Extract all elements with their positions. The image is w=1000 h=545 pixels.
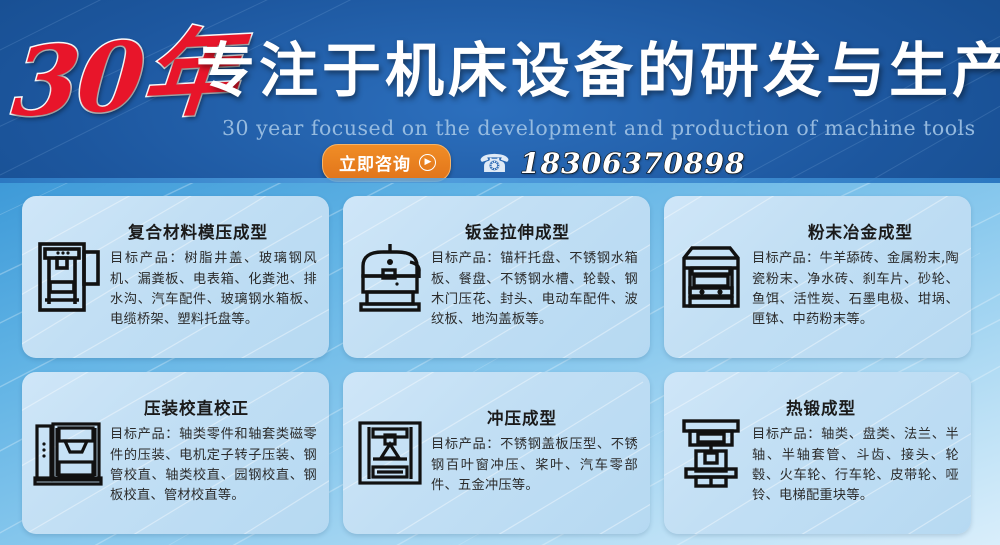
header-banner: 30年 专注于机床设备的研发与生产 30 year focused on the… [0,0,1000,183]
card-description: 目标产品：不锈钢盖板压型、不锈钢百叶窗冲压、桨叶、汽车零部件、五金冲压等。 [431,435,638,495]
card-text: 钣金拉伸成型 目标产品：锚杆托盘、不锈钢水箱板、餐盘、不锈钢水槽、轮毂、钢木门压… [427,224,638,329]
card-hot-forging[interactable]: 热锻成型 目标产品：轴类、盘类、法兰、半轴、半轴套管、斗齿、接头、轮毂、火车轮、… [664,372,971,534]
card-title: 冲压成型 [431,410,638,428]
play-arrow-icon: ▶ [419,154,436,171]
powder-metallurgy-press-icon [674,234,748,320]
banner-cta-row: 立即咨询 ▶ ☎ 18306370898 [322,144,745,182]
product-cards-section: 复合材料模压成型 目标产品：树脂井盖、玻璃钢风机、漏粪板、电表箱、化粪池、排水沟… [0,183,1000,545]
card-sheet-metal-drawing[interactable]: 钣金拉伸成型 目标产品：锚杆托盘、不锈钢水箱板、餐盘、不锈钢水槽、轮毂、钢木门压… [343,196,650,358]
press-fit-straightening-machine-icon [32,410,106,496]
consult-now-button[interactable]: 立即咨询 ▶ [322,144,451,182]
telephone-handset-icon: ☎ [479,151,510,176]
banner-subheadline: 30 year focused on the development and p… [222,116,976,140]
card-text: 压装校直校正 目标产品：轴类零件和轴套类磁零件的压装、电机定子转子压装、钢管校直… [106,400,317,505]
card-description: 目标产品：锚杆托盘、不锈钢水箱板、餐盘、不锈钢水槽、轮毂、钢木门压花、封头、电动… [431,249,638,329]
card-title: 热锻成型 [752,400,959,418]
stamping-press-icon [353,410,427,496]
card-text: 复合材料模压成型 目标产品：树脂井盖、玻璃钢风机、漏粪板、电表箱、化粪池、排水沟… [106,224,317,329]
card-text: 冲压成型 目标产品：不锈钢盖板压型、不锈钢百叶窗冲压、桨叶、汽车零部件、五金冲压… [427,410,638,495]
card-title: 复合材料模压成型 [110,224,317,242]
hot-forging-press-icon [674,410,748,496]
promo-banner-page: 30年 专注于机床设备的研发与生产 30 year focused on the… [0,0,1000,545]
card-press-fit-straightening[interactable]: 压装校直校正 目标产品：轴类零件和轴套类磁零件的压装、电机定子转子压装、钢管校直… [22,372,329,534]
card-title: 压装校直校正 [110,400,317,418]
card-description: 目标产品：牛羊舔砖、金属粉末,陶瓷粉末、净水砖、刹车片、砂轮、鱼饵、活性炭、石墨… [752,249,959,329]
card-text: 粉末冶金成型 目标产品：牛羊舔砖、金属粉末,陶瓷粉末、净水砖、刹车片、砂轮、鱼饵… [748,224,959,329]
sheet-metal-drawing-press-icon [353,234,427,320]
card-text: 热锻成型 目标产品：轴类、盘类、法兰、半轴、半轴套管、斗齿、接头、轮毂、火车轮、… [748,400,959,505]
consult-now-label: 立即咨询 [339,150,411,175]
card-stamping-forming[interactable]: 冲压成型 目标产品：不锈钢盖板压型、不锈钢百叶窗冲压、桨叶、汽车零部件、五金冲压… [343,372,650,534]
card-composite-molding[interactable]: 复合材料模压成型 目标产品：树脂井盖、玻璃钢风机、漏粪板、电表箱、化粪池、排水沟… [22,196,329,358]
phone-block[interactable]: ☎ 18306370898 [479,147,745,180]
card-description: 目标产品：轴类、盘类、法兰、半轴、半轴套管、斗齿、接头、轮毂、火车轮、行车轮、皮… [752,425,959,505]
molding-press-machine-icon [32,234,106,320]
phone-number: 18306370898 [520,147,745,180]
banner-headline: 专注于机床设备的研发与生产 [196,40,1000,102]
card-powder-metallurgy[interactable]: 粉末冶金成型 目标产品：牛羊舔砖、金属粉末,陶瓷粉末、净水砖、刹车片、砂轮、鱼饵… [664,196,971,358]
card-description: 目标产品：轴类零件和轴套类磁零件的压装、电机定子转子压装、钢管校直、轴类校直、园… [110,425,317,505]
cards-grid: 复合材料模压成型 目标产品：树脂井盖、玻璃钢风机、漏粪板、电表箱、化粪池、排水沟… [22,196,980,534]
card-description: 目标产品：树脂井盖、玻璃钢风机、漏粪板、电表箱、化粪池、排水沟、汽车配件、玻璃钢… [110,249,317,329]
card-title: 钣金拉伸成型 [431,224,638,242]
card-title: 粉末冶金成型 [752,224,959,242]
